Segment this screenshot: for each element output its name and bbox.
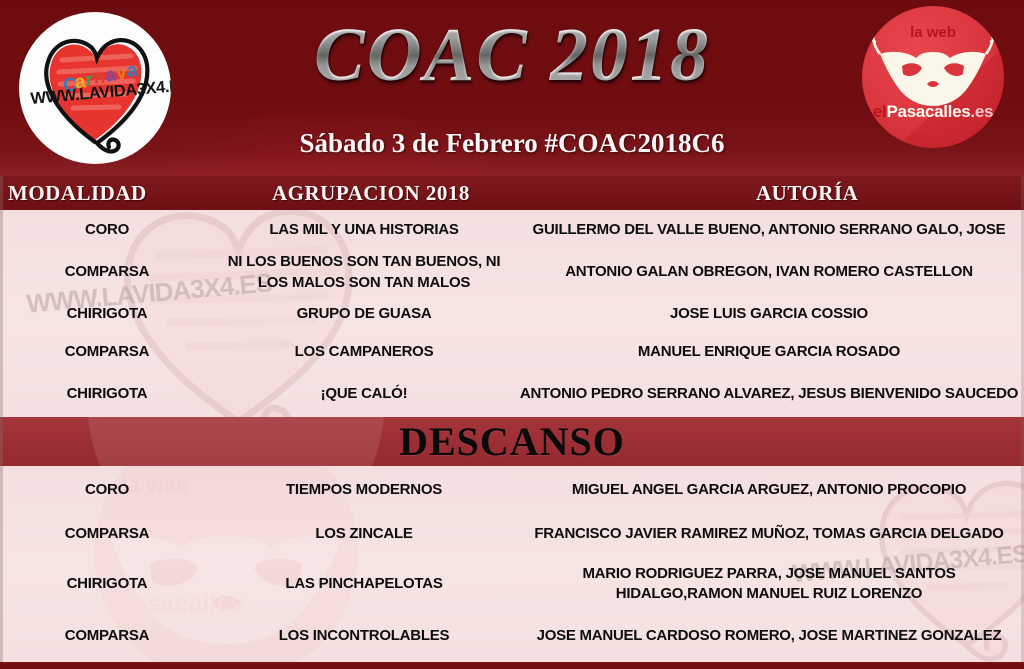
lineup-rows-after-break: la web Pasacalles WWW.LAVIDA3X4.ES CORO …: [0, 466, 1024, 662]
table-row: CHIRIGOTA GRUPO DE GUASA JOSE LUIS GARCI…: [0, 295, 1024, 333]
cell-modalidad: CHIRIGOTA: [0, 574, 214, 594]
cell-modalidad: COMPARSA: [0, 626, 214, 646]
cell-modalidad: COMPARSA: [0, 342, 214, 362]
mask-watermark-icon: [86, 417, 386, 466]
cell-agrupacion: LAS MIL Y UNA HISTORIAS: [214, 220, 514, 240]
cell-modalidad: COMPARSA: [0, 524, 214, 544]
mask-logo-top-text: la web: [862, 24, 1004, 41]
cell-agrupacion: TIEMPOS MODERNOS: [214, 480, 514, 500]
cell-modalidad: COMPARSA: [0, 262, 214, 282]
cell-agrupacion: LOS CAMPANEROS: [214, 342, 514, 362]
elpasacalles-mask-logo: la web elPasacalles.es: [862, 6, 1004, 148]
poster-header: C a r n a v a l WWW.LAVIDA3X4.ES WWW.LAV…: [0, 0, 1024, 176]
cell-agrupacion: GRUPO DE GUASA: [214, 304, 514, 324]
cell-modalidad: CORO: [0, 220, 214, 240]
table-row: CORO LAS MIL Y UNA HISTORIAS GUILLERMO D…: [0, 210, 1024, 250]
table-column-headers: MODALIDAD AGRUPACION 2018 AUTORÍA: [0, 176, 1024, 210]
cell-agrupacion: NI LOS BUENOS SON TAN BUENOS, NI LOS MAL…: [214, 252, 514, 293]
table-row: COMPARSA LOS ZINCALE FRANCISCO JAVIER RA…: [0, 514, 1024, 555]
cell-autoria: GUILLERMO DEL VALLE BUENO, ANTONIO SERRA…: [514, 220, 1024, 240]
cell-autoria: MIGUEL ANGEL GARCIA ARGUEZ, ANTONIO PROC…: [514, 480, 1024, 500]
cell-agrupacion: LAS PINCHAPELOTAS: [214, 574, 514, 594]
cell-autoria: JOSE LUIS GARCIA COSSIO: [514, 304, 1024, 324]
intermission-label: DESCANSO: [399, 418, 625, 465]
mask-logo-brand: elPasacalles.es: [862, 102, 1004, 122]
brand-pasacalles: Pasacalles: [886, 102, 970, 121]
cell-autoria: ANTONIO PEDRO SERRANO ALVAREZ, JESUS BIE…: [514, 384, 1024, 404]
table-row: COMPARSA LOS CAMPANEROS MANUEL ENRIQUE G…: [0, 333, 1024, 371]
table-row: COMPARSA NI LOS BUENOS SON TAN BUENOS, N…: [0, 250, 1024, 295]
column-header-agrupacion: AGRUPACION 2018: [272, 181, 470, 206]
cell-autoria: ANTONIO GALAN OBREGON, IVAN ROMERO CASTE…: [514, 262, 1024, 282]
brand-el: el: [873, 102, 887, 121]
cell-autoria: MARIO RODRIGUEZ PARRA, JOSE MANUEL SANTO…: [514, 564, 1024, 605]
table-left-edge: [0, 176, 3, 669]
cell-modalidad: CHIRIGOTA: [0, 384, 214, 404]
column-header-autoria: AUTORÍA: [756, 181, 858, 206]
cell-agrupacion: ¡QUE CALÓ!: [214, 384, 514, 404]
poster-bottom-strip: [0, 662, 1024, 669]
cell-autoria: JOSE MANUEL CARDOSO ROMERO, JOSE MARTINE…: [514, 626, 1024, 646]
cell-modalidad: CORO: [0, 480, 214, 500]
column-header-modalidad: MODALIDAD: [8, 181, 147, 206]
table-row: COMPARSA LOS INCONTROLABLES JOSE MANUEL …: [0, 613, 1024, 659]
intermission-separator: DESCANSO: [0, 417, 1024, 466]
cell-autoria: FRANCISCO JAVIER RAMIREZ MUÑOZ, TOMAS GA…: [514, 524, 1024, 544]
cell-agrupacion: LOS INCONTROLABLES: [214, 626, 514, 646]
table-row: CHIRIGOTA LAS PINCHAPELOTAS MARIO RODRIG…: [0, 555, 1024, 613]
brand-tld: .es: [970, 102, 993, 121]
table-row: CHIRIGOTA ¡QUE CALÓ! ANTONIO PEDRO SERRA…: [0, 371, 1024, 417]
table-row: CORO TIEMPOS MODERNOS MIGUEL ANGEL GARCI…: [0, 466, 1024, 514]
cell-modalidad: CHIRIGOTA: [0, 304, 214, 324]
cell-autoria: MANUEL ENRIQUE GARCIA ROSADO: [514, 342, 1024, 362]
coac-2018-lineup-poster: C a r n a v a l WWW.LAVIDA3X4.ES WWW.LAV…: [0, 0, 1024, 669]
lineup-rows-before-break: WWW.LAVIDA3X4.ES CORO LAS MIL Y UNA HIST…: [0, 210, 1024, 417]
cell-agrupacion: LOS ZINCALE: [214, 524, 514, 544]
